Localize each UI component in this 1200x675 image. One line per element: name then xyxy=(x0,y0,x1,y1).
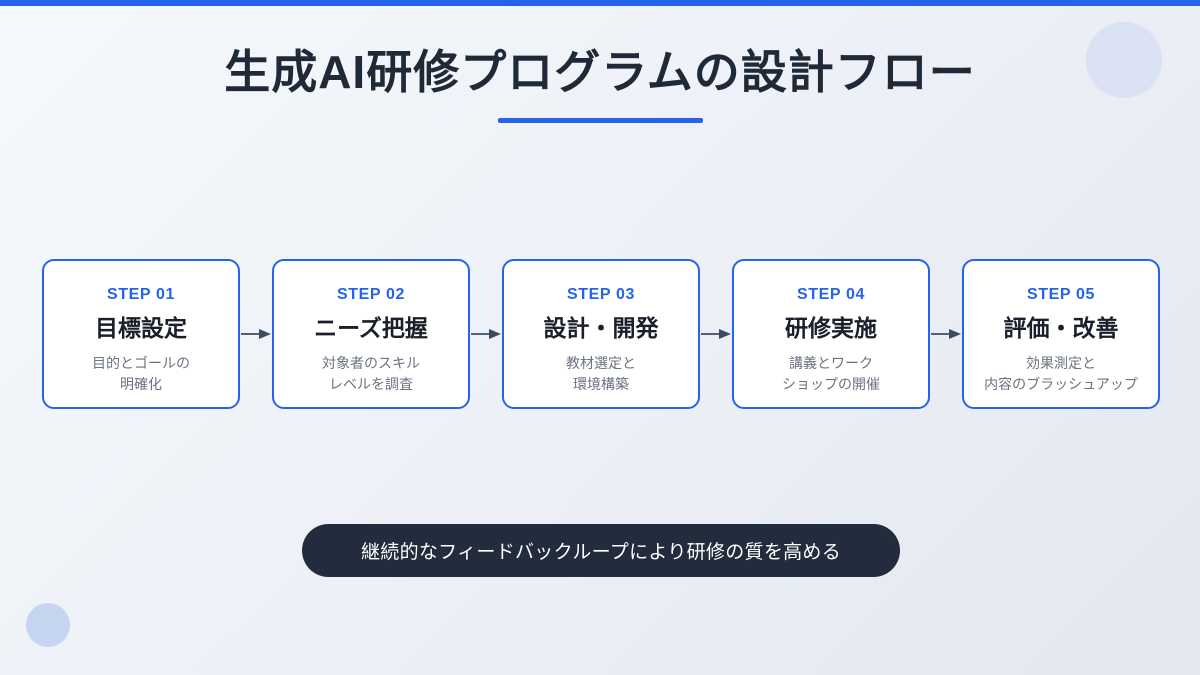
step-card-1[interactable]: STEP 01 目標設定 目的とゴールの 明確化 xyxy=(42,259,240,409)
step-description: 効果測定と 内容のブラッシュアップ xyxy=(984,353,1138,395)
footer-callout-text: 継続的なフィードバックループにより研修の質を高める xyxy=(361,537,841,564)
step-title: 研修実施 xyxy=(785,317,877,340)
step-card-4[interactable]: STEP 04 研修実施 講義とワーク ショップの開催 xyxy=(732,259,930,409)
step-description-line-2: 明確化 xyxy=(92,374,190,395)
arrow-right-icon xyxy=(700,328,732,340)
step-description-line-1: 教材選定と xyxy=(566,353,636,374)
decorative-circle-bottom-left xyxy=(26,603,70,647)
step-card-5[interactable]: STEP 05 評価・改善 効果測定と 内容のブラッシュアップ xyxy=(962,259,1160,409)
top-accent-bar xyxy=(0,0,1200,6)
page-title: 生成AI研修プログラムの設計フロー xyxy=(0,44,1200,102)
step-description-line-1: 講義とワーク xyxy=(782,353,880,374)
step-card-2[interactable]: STEP 02 ニーズ把握 対象者のスキル レベルを調査 xyxy=(272,259,470,409)
step-label: STEP 02 xyxy=(337,287,405,303)
title-block: 生成AI研修プログラムの設計フロー xyxy=(0,44,1200,123)
step-description-line-2: 環境構築 xyxy=(566,374,636,395)
step-description-line-2: 内容のブラッシュアップ xyxy=(984,374,1138,395)
step-description-line-2: レベルを調査 xyxy=(322,374,420,395)
arrow-right-icon xyxy=(930,328,962,340)
arrow-right-icon xyxy=(470,328,502,340)
slide-canvas: 生成AI研修プログラムの設計フロー STEP 01 目標設定 目的とゴールの 明… xyxy=(0,0,1200,675)
process-flow: STEP 01 目標設定 目的とゴールの 明確化 STEP 02 ニーズ把握 対… xyxy=(42,259,1160,409)
step-description-line-2: ショップの開催 xyxy=(782,374,880,395)
step-description: 教材選定と 環境構築 xyxy=(566,353,636,395)
step-title: ニーズ把握 xyxy=(314,317,428,340)
step-label: STEP 03 xyxy=(567,287,635,303)
arrow-right-icon xyxy=(240,328,272,340)
step-title: 目標設定 xyxy=(95,317,187,340)
footer-callout-pill: 継続的なフィードバックループにより研修の質を高める xyxy=(302,524,900,577)
step-description-line-1: 目的とゴールの xyxy=(92,353,190,374)
step-label: STEP 05 xyxy=(1027,287,1095,303)
step-description-line-1: 対象者のスキル xyxy=(322,353,420,374)
step-title: 評価・改善 xyxy=(1004,317,1119,340)
step-card-3[interactable]: STEP 03 設計・開発 教材選定と 環境構築 xyxy=(502,259,700,409)
step-label: STEP 04 xyxy=(797,287,865,303)
step-description: 対象者のスキル レベルを調査 xyxy=(322,353,420,395)
title-underline xyxy=(498,118,703,123)
step-label: STEP 01 xyxy=(107,287,175,303)
step-description: 目的とゴールの 明確化 xyxy=(92,353,190,395)
step-description: 講義とワーク ショップの開催 xyxy=(782,353,880,395)
step-title: 設計・開発 xyxy=(544,317,659,340)
step-description-line-1: 効果測定と xyxy=(984,353,1138,374)
